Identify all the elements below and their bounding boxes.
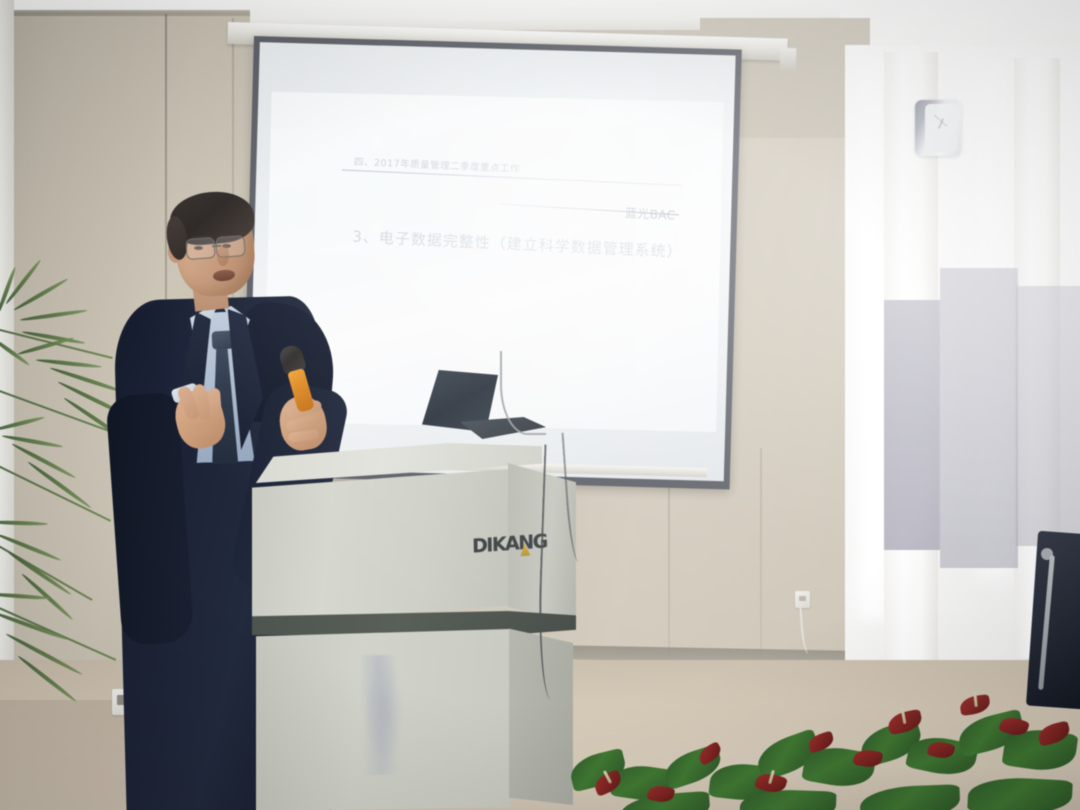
flower-leaf <box>967 775 1073 810</box>
slide-brand-text: 蓝光BAC <box>625 204 676 224</box>
palm-stem <box>0 602 116 660</box>
ceiling-spotlight-icon <box>962 10 990 26</box>
wall-seam <box>760 448 762 663</box>
palm-leaf <box>0 520 48 526</box>
wainscot-panel <box>940 268 1018 568</box>
wall-clock <box>915 100 961 156</box>
palm-leaf <box>2 434 64 449</box>
speaker-nose <box>217 246 229 266</box>
clock-face-icon <box>925 104 957 152</box>
lectern: DIKANG <box>250 425 580 810</box>
slide-body-text: 3、电子数据完整性（建立科学数据管理系统） <box>352 226 683 263</box>
presentation-photo: 四、2017年质量管理二季度重点工作 蓝光BAC 3、电子数据完整性（建立科学数… <box>0 0 1080 810</box>
palm-stem <box>0 540 93 600</box>
flower-leaf <box>859 784 960 810</box>
palm-leaf <box>0 415 45 431</box>
projector-screen-housing-endcap <box>780 48 797 71</box>
palm-leaf <box>36 358 102 369</box>
lectern-faded-marking <box>360 655 404 775</box>
wainscot-panel <box>884 300 940 550</box>
chair-adjust-knob[interactable] <box>1041 548 1053 560</box>
speaker-finger <box>208 388 222 421</box>
palm-leaf <box>20 309 88 322</box>
anthurium-spadix <box>973 692 978 707</box>
anthurium-planter <box>560 690 1080 810</box>
wainscot-panel <box>1016 286 1080 546</box>
socket-slot <box>799 596 806 601</box>
left-wall-top-trim <box>0 10 250 16</box>
palm-stem <box>0 462 111 521</box>
eyeglass-lens-left <box>185 237 215 260</box>
palm-leaf <box>17 654 78 703</box>
palm-leaf <box>0 532 62 562</box>
